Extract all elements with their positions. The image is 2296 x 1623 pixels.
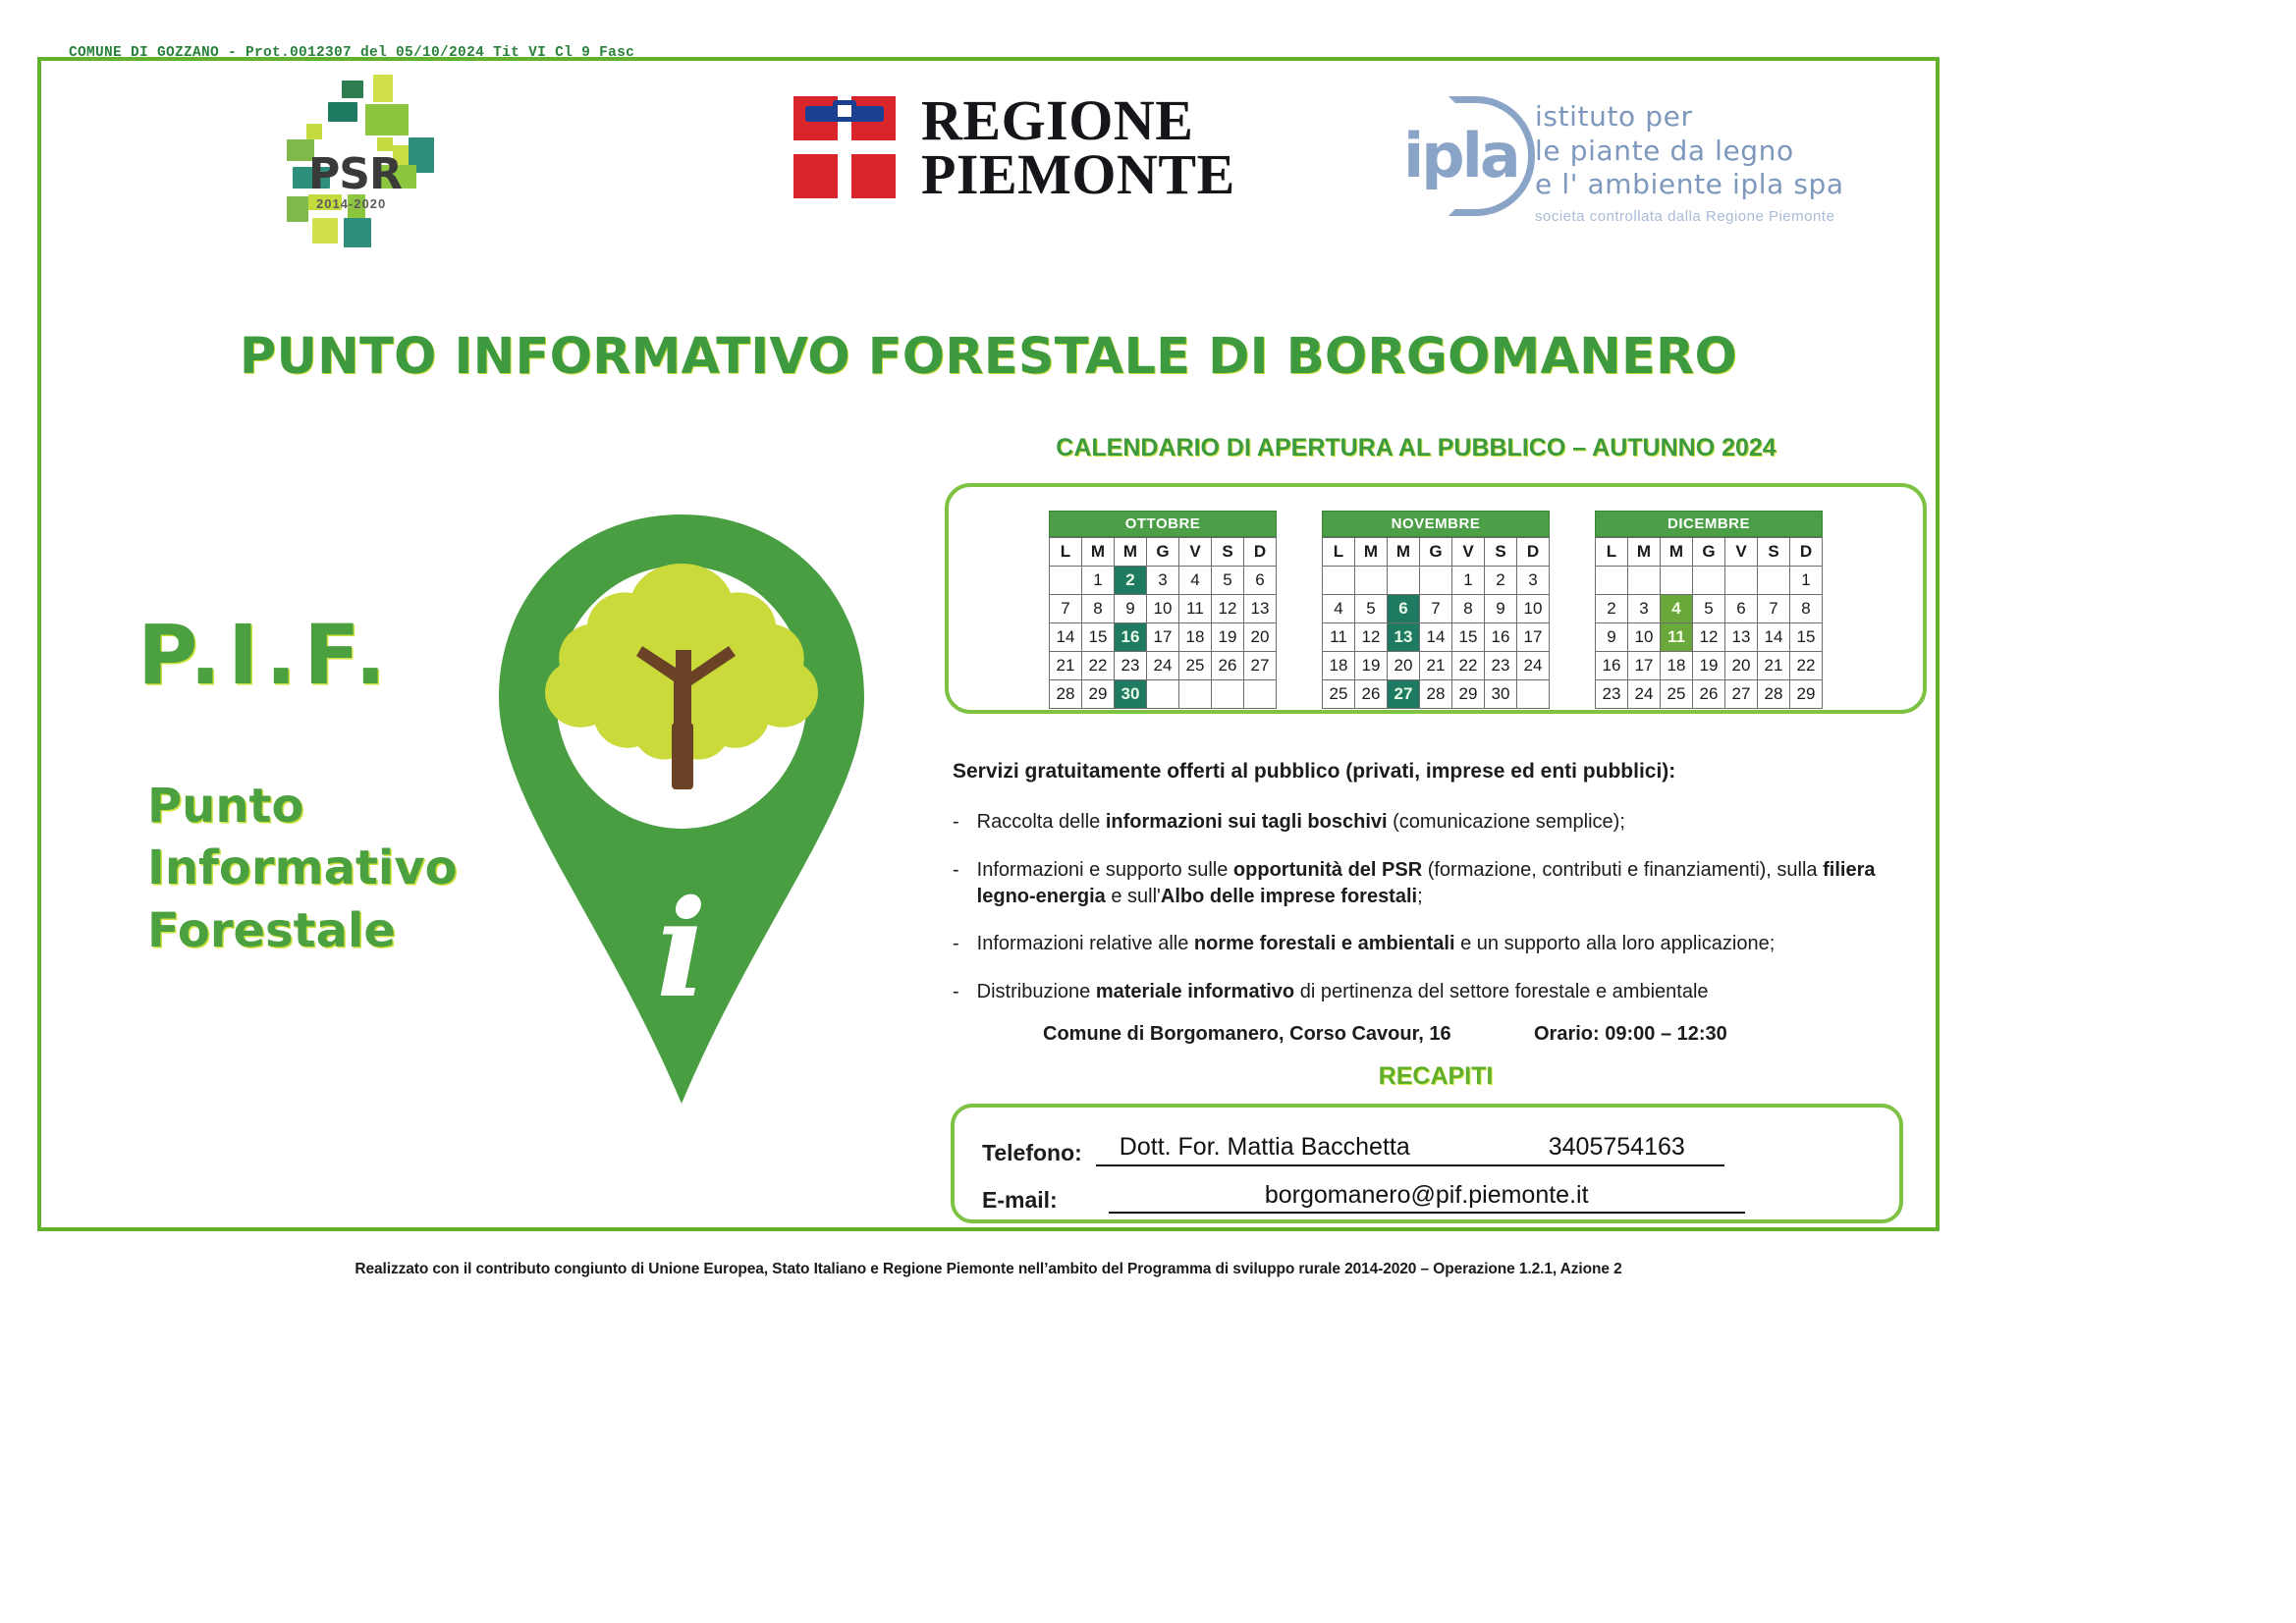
weekday-header: S xyxy=(1485,538,1517,567)
calendar-empty-cell xyxy=(1244,680,1277,709)
calendar-day: 24 xyxy=(1147,652,1179,680)
calendar-day: 11 xyxy=(1323,623,1355,652)
weekday-header: M xyxy=(1082,538,1115,567)
opening-hours: Orario: 09:00 – 12:30 xyxy=(1534,1023,1727,1046)
calendar-day: 6 xyxy=(1725,595,1758,623)
calendar-empty-cell xyxy=(1596,567,1628,595)
calendar-day: 23 xyxy=(1115,652,1147,680)
pif-expansion-line1: Punto xyxy=(147,776,458,838)
ipla-mark-icon: ipla xyxy=(1401,90,1517,206)
weekday-header: D xyxy=(1517,538,1550,567)
calendar-day: 28 xyxy=(1758,680,1790,709)
calendar-day: 1 xyxy=(1790,567,1823,595)
calendar-empty-cell xyxy=(1693,567,1725,595)
psr-wordmark: PSR xyxy=(308,149,402,199)
logo-row: PSR 2014-2020 REGIONE PIEMONTE ipla xyxy=(41,61,1936,247)
calendar-day: 14 xyxy=(1420,623,1452,652)
calendar-week-row: 9101112131415 xyxy=(1596,623,1823,652)
calendar-month-title: OTTOBRE xyxy=(1049,511,1277,537)
calendar-week-row: 252627282930 xyxy=(1323,680,1550,709)
weekday-header: V xyxy=(1179,538,1212,567)
psr-years: 2014-2020 xyxy=(316,196,386,211)
calendar-day: 2 xyxy=(1596,595,1628,623)
funding-footer: Realizzato con il contributo congiunto d… xyxy=(41,1261,1936,1278)
weekday-header: M xyxy=(1388,538,1420,567)
calendar-day-open: 6 xyxy=(1388,595,1420,623)
calendar-day: 4 xyxy=(1323,595,1355,623)
calendar-day: 1 xyxy=(1452,567,1485,595)
calendar-day: 14 xyxy=(1050,623,1082,652)
pif-acronym: P.I.F. xyxy=(137,607,393,703)
calendar-week-row: 18192021222324 xyxy=(1323,652,1550,680)
calendar-day: 24 xyxy=(1517,652,1550,680)
calendar-day: 25 xyxy=(1179,652,1212,680)
ipla-line1: istituto per xyxy=(1535,100,1844,135)
calendar-week-row: 21222324252627 xyxy=(1050,652,1277,680)
weekday-header: V xyxy=(1452,538,1485,567)
calendar-day: 5 xyxy=(1355,595,1388,623)
calendar-day: 5 xyxy=(1212,567,1244,595)
calendar-day: 3 xyxy=(1628,595,1661,623)
weekday-header: G xyxy=(1693,538,1725,567)
calendar-dicembre: DICEMBRELMMGVSD1234567891011121314151617… xyxy=(1595,511,1823,709)
calendar-empty-cell xyxy=(1388,567,1420,595)
calendar-empty-cell xyxy=(1355,567,1388,595)
calendar-day: 7 xyxy=(1758,595,1790,623)
calendar-week-row: 23242526272829 xyxy=(1596,680,1823,709)
calendar-row: OTTOBRELMMGVSD12345678910111213141516171… xyxy=(949,511,1923,709)
page-title: PUNTO INFORMATIVO FORESTALE DI BORGOMANE… xyxy=(41,328,1936,386)
calendar-day: 23 xyxy=(1596,680,1628,709)
regione-line2: PIEMONTE xyxy=(921,147,1235,201)
calendar-day: 17 xyxy=(1147,623,1179,652)
calendar-day: 9 xyxy=(1485,595,1517,623)
pif-expansion-line3: Forestale xyxy=(147,900,458,962)
calendar-week-row: 282930 xyxy=(1050,680,1277,709)
calendar-empty-cell xyxy=(1758,567,1790,595)
calendar-day: 16 xyxy=(1485,623,1517,652)
psr-logo: PSR 2014-2020 xyxy=(287,81,464,238)
contacts-box: Telefono: Dott. For. Mattia Bacchetta 34… xyxy=(951,1104,1903,1223)
map-pin-tree-info-icon: i xyxy=(485,505,878,1113)
calendar-day: 21 xyxy=(1050,652,1082,680)
calendar-day: 9 xyxy=(1115,595,1147,623)
email-label: E-mail: xyxy=(982,1187,1058,1214)
calendar-week-row: 2345678 xyxy=(1596,595,1823,623)
calendar-day: 6 xyxy=(1244,567,1277,595)
calendar-empty-cell xyxy=(1661,567,1693,595)
weekday-header: L xyxy=(1050,538,1082,567)
calendar-day: 29 xyxy=(1452,680,1485,709)
calendar-empty-cell xyxy=(1179,680,1212,709)
calendar-day: 12 xyxy=(1212,595,1244,623)
calendar-novembre: NOVEMBRELMMGVSD1234567891011121314151617… xyxy=(1322,511,1550,709)
calendar-week-row: 45678910 xyxy=(1323,595,1550,623)
calendar-day-open: 4 xyxy=(1661,595,1693,623)
calendar-day: 21 xyxy=(1758,652,1790,680)
calendar-empty-cell xyxy=(1517,680,1550,709)
calendar-empty-cell xyxy=(1147,680,1179,709)
calendar-day-open: 2 xyxy=(1115,567,1147,595)
calendar-day: 5 xyxy=(1693,595,1725,623)
info-letter: i xyxy=(656,871,707,1028)
calendar-day: 29 xyxy=(1790,680,1823,709)
calendar-week-row: 78910111213 xyxy=(1050,595,1277,623)
service-item: -Informazioni e supporto sulle opportuni… xyxy=(953,857,1876,910)
calendar-day: 24 xyxy=(1628,680,1661,709)
ipla-line2: le piante da legno xyxy=(1535,135,1844,169)
calendar-day-open: 13 xyxy=(1388,623,1420,652)
calendar-day: 10 xyxy=(1517,595,1550,623)
calendar-day: 27 xyxy=(1244,652,1277,680)
ipla-line3: e l' ambiente ipla spa xyxy=(1535,168,1844,202)
service-item: -Informazioni relative alle norme forest… xyxy=(953,931,1876,957)
weekday-header: S xyxy=(1212,538,1244,567)
calendar-empty-cell xyxy=(1628,567,1661,595)
address-text: Comune di Borgomanero, Corso Cavour, 16 xyxy=(1043,1023,1451,1046)
calendar-day: 29 xyxy=(1082,680,1115,709)
pif-expansion: Punto Informativo Forestale xyxy=(147,776,458,962)
calendar-day: 12 xyxy=(1355,623,1388,652)
calendar-day: 26 xyxy=(1212,652,1244,680)
bullet-dash: - xyxy=(953,931,959,957)
calendar-day: 16 xyxy=(1596,652,1628,680)
calendar-day: 4 xyxy=(1179,567,1212,595)
calendar-panel: OTTOBRELMMGVSD12345678910111213141516171… xyxy=(945,483,1927,714)
calendar-empty-cell xyxy=(1323,567,1355,595)
calendar-month-title: DICEMBRE xyxy=(1595,511,1823,537)
service-item-text: Raccolta delle informazioni sui tagli bo… xyxy=(977,809,1625,836)
ipla-subline: societa controllata dalla Regione Piemon… xyxy=(1535,208,1844,225)
calendar-day: 2 xyxy=(1485,567,1517,595)
calendar-day: 19 xyxy=(1212,623,1244,652)
weekday-header: M xyxy=(1355,538,1388,567)
contacts-heading: RECAPITI xyxy=(945,1062,1927,1091)
calendar-week-row: 11121314151617 xyxy=(1323,623,1550,652)
calendar-day: 8 xyxy=(1790,595,1823,623)
calendar-day: 13 xyxy=(1244,595,1277,623)
calendar-day: 18 xyxy=(1661,652,1693,680)
calendar-day: 25 xyxy=(1323,680,1355,709)
calendar-day: 3 xyxy=(1517,567,1550,595)
calendar-day: 14 xyxy=(1758,623,1790,652)
calendar-day: 8 xyxy=(1082,595,1115,623)
calendar-day: 18 xyxy=(1323,652,1355,680)
calendar-day: 30 xyxy=(1485,680,1517,709)
calendar-day: 3 xyxy=(1147,567,1179,595)
calendar-day: 26 xyxy=(1355,680,1388,709)
weekday-header: M xyxy=(1115,538,1147,567)
calendar-day: 9 xyxy=(1596,623,1628,652)
calendar-day: 26 xyxy=(1693,680,1725,709)
calendar-day-open: 27 xyxy=(1388,680,1420,709)
calendar-day-open: 16 xyxy=(1115,623,1147,652)
calendar-day-open: 11 xyxy=(1661,623,1693,652)
service-item-text: Distribuzione materiale informativo di p… xyxy=(977,979,1709,1005)
calendar-day: 7 xyxy=(1420,595,1452,623)
poster-page: COMUNE DI GOZZANO - Prot.0012307 del 05/… xyxy=(0,0,2296,1623)
email-value-rule: borgomanero@pif.piemonte.it xyxy=(1109,1172,1745,1214)
ipla-logo: ipla istituto per le piante da legno e l… xyxy=(1401,90,1844,225)
phone-contact-name: Dott. For. Mattia Bacchetta xyxy=(1120,1133,1410,1162)
weekday-header: M xyxy=(1661,538,1693,567)
calendar-day: 10 xyxy=(1147,595,1179,623)
calendar-day: 19 xyxy=(1693,652,1725,680)
calendar-ottobre: OTTOBRELMMGVSD12345678910111213141516171… xyxy=(1049,511,1277,709)
calendar-day: 12 xyxy=(1693,623,1725,652)
service-item: -Distribuzione materiale informativo di … xyxy=(953,979,1876,1005)
calendar-week-row: 16171819202122 xyxy=(1596,652,1823,680)
calendar-day: 17 xyxy=(1517,623,1550,652)
email-address: borgomanero@pif.piemonte.it xyxy=(1265,1181,1589,1210)
pif-expansion-line2: Informativo xyxy=(147,838,458,899)
calendar-day: 10 xyxy=(1628,623,1661,652)
calendar-month-title: NOVEMBRE xyxy=(1322,511,1550,537)
calendar-empty-cell xyxy=(1420,567,1452,595)
bullet-dash: - xyxy=(953,857,959,910)
calendar-empty-cell xyxy=(1725,567,1758,595)
phone-value-rule: Dott. For. Mattia Bacchetta 3405754163 xyxy=(1096,1125,1724,1166)
service-item: -Raccolta delle informazioni sui tagli b… xyxy=(953,809,1876,836)
weekday-header: L xyxy=(1596,538,1628,567)
calendar-day: 1 xyxy=(1082,567,1115,595)
weekday-header: L xyxy=(1323,538,1355,567)
calendar-day: 21 xyxy=(1420,652,1452,680)
calendar-day: 8 xyxy=(1452,595,1485,623)
calendar-day: 15 xyxy=(1790,623,1823,652)
calendar-day: 28 xyxy=(1420,680,1452,709)
calendar-day: 18 xyxy=(1179,623,1212,652)
calendar-day: 13 xyxy=(1725,623,1758,652)
calendar-day: 11 xyxy=(1179,595,1212,623)
savoy-cross-flag-icon xyxy=(790,92,900,202)
calendar-subtitle: CALENDARIO DI APERTURA AL PUBBLICO – AUT… xyxy=(925,434,1907,462)
services-heading: Servizi gratuitamente offerti al pubblic… xyxy=(953,760,1675,784)
calendar-week-row: 1 xyxy=(1596,567,1823,595)
regione-piemonte-wordmark: REGIONE PIEMONTE xyxy=(921,93,1235,201)
weekday-header: D xyxy=(1790,538,1823,567)
calendar-day: 22 xyxy=(1082,652,1115,680)
calendar-day: 15 xyxy=(1082,623,1115,652)
calendar-day: 28 xyxy=(1050,680,1082,709)
weekday-header: G xyxy=(1420,538,1452,567)
weekday-header: D xyxy=(1244,538,1277,567)
weekday-header: S xyxy=(1758,538,1790,567)
bullet-dash: - xyxy=(953,979,959,1005)
calendar-empty-cell xyxy=(1050,567,1082,595)
calendar-day: 23 xyxy=(1485,652,1517,680)
calendar-day: 17 xyxy=(1628,652,1661,680)
calendar-day: 25 xyxy=(1661,680,1693,709)
calendar-day: 15 xyxy=(1452,623,1485,652)
calendar-day: 19 xyxy=(1355,652,1388,680)
calendar-day-open: 30 xyxy=(1115,680,1147,709)
weekday-header: G xyxy=(1147,538,1179,567)
calendar-day: 22 xyxy=(1790,652,1823,680)
calendar-day: 20 xyxy=(1244,623,1277,652)
weekday-header: V xyxy=(1725,538,1758,567)
ipla-tagline: istituto per le piante da legno e l' amb… xyxy=(1535,90,1844,225)
poster-frame: PSR 2014-2020 REGIONE PIEMONTE ipla xyxy=(37,57,1940,1231)
services-list: -Raccolta delle informazioni sui tagli b… xyxy=(953,809,1876,1027)
weekday-header: M xyxy=(1628,538,1661,567)
calendar-day: 7 xyxy=(1050,595,1082,623)
calendar-week-row: 123 xyxy=(1323,567,1550,595)
bullet-dash: - xyxy=(953,809,959,836)
calendar-day: 20 xyxy=(1388,652,1420,680)
service-item-text: Informazioni relative alle norme foresta… xyxy=(977,931,1776,957)
calendar-week-row: 123456 xyxy=(1050,567,1277,595)
calendar-day: 20 xyxy=(1725,652,1758,680)
calendar-week-row: 14151617181920 xyxy=(1050,623,1277,652)
calendar-day: 27 xyxy=(1725,680,1758,709)
phone-number: 3405754163 xyxy=(1549,1133,1685,1162)
service-item-text: Informazioni e supporto sulle opportunit… xyxy=(977,857,1876,910)
calendar-day: 22 xyxy=(1452,652,1485,680)
phone-label: Telefono: xyxy=(982,1140,1082,1166)
calendar-empty-cell xyxy=(1212,680,1244,709)
regione-piemonte-logo: REGIONE PIEMONTE xyxy=(790,88,1235,206)
regione-line1: REGIONE xyxy=(921,93,1235,147)
